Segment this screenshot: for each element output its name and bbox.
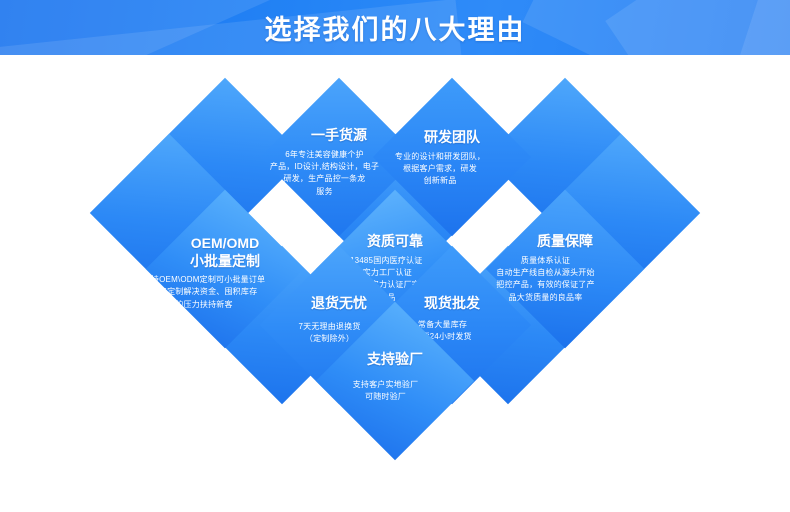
card-title: 一手货源 xyxy=(311,127,367,145)
card-title: 退货无忧 xyxy=(311,295,367,313)
card-title: 现货批发 xyxy=(424,295,480,313)
diamond-grid: 一手货源 6年专注美容健康个护 产品，ID设计,结构设计，电子 研发，生产品控一… xyxy=(0,55,790,465)
card-title: OEM/OMD 小批量定制 xyxy=(190,235,260,270)
card-body: 专业的设计和研发团队， 根据客户需求，研发 创新新品 xyxy=(360,151,520,188)
card-factory-audit[interactable]: 支持验厂 支持客户实地验厂 可随时验厂 xyxy=(316,302,474,460)
card-title: 质量保障 xyxy=(537,233,593,251)
card-body: 支持OEM\ODM定制可小批量订单 生产定制解决资金、囤积库存 的压力扶持新客 xyxy=(106,274,302,311)
card-title: 研发团队 xyxy=(424,129,480,147)
page-header-banner: 选择我们的八大理由 xyxy=(0,0,790,55)
card-title: 资质可靠 xyxy=(367,233,423,251)
page-title: 选择我们的八大理由 xyxy=(0,0,790,55)
card-body: 支持客户实地验厂 可随时验厂 xyxy=(311,379,461,404)
card-title: 支持验厂 xyxy=(367,351,423,369)
